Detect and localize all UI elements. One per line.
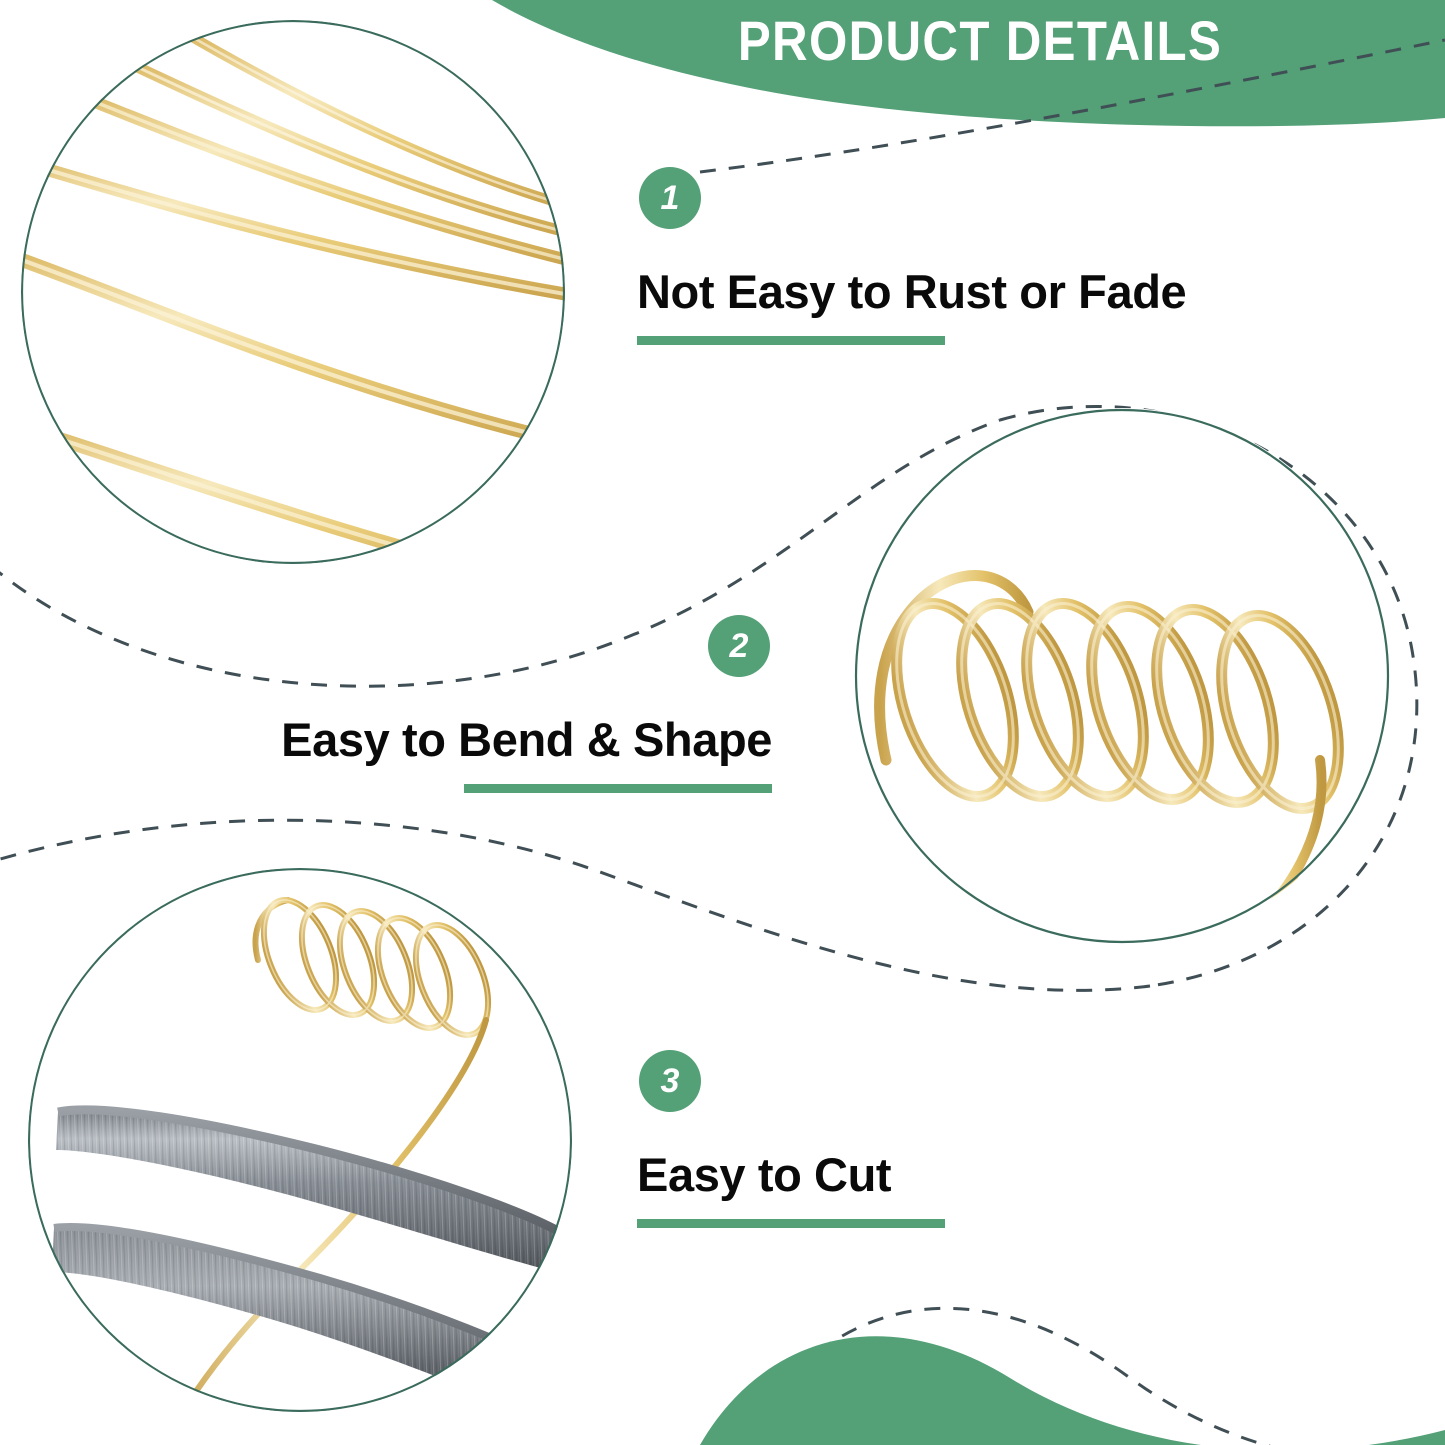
- scissor-blade-upper: [56, 1110, 560, 1272]
- feature-title-2: Easy to Bend & Shape: [252, 715, 772, 764]
- feature-block-3: 3 Easy to Cut: [637, 1050, 945, 1228]
- scissor-blade-lower: [52, 1227, 562, 1424]
- photo-circle-wire-coil: [850, 400, 1400, 950]
- photo-circle-scissors-cutting: [20, 860, 580, 1440]
- feature-block-1: 1 Not Easy to Rust or Fade: [637, 167, 1186, 345]
- product-details-infographic: PRODUCT DETAILS 1 Not Easy to Rust or Fa…: [0, 0, 1445, 1445]
- page-title: PRODUCT DETAILS: [646, 8, 1315, 73]
- feature-title-3: Easy to Cut: [637, 1150, 945, 1199]
- footer-green-wave: [700, 1336, 1445, 1445]
- feature-underline-1: [637, 336, 945, 345]
- feature-underline-2: [464, 784, 772, 793]
- feature-block-2: 2 Easy to Bend & Shape: [252, 615, 772, 793]
- feature-number-badge-3: 3: [639, 1050, 701, 1112]
- dashed-curve-circle2: [1000, 406, 1417, 986]
- dashed-curve-bottom: [818, 1308, 1445, 1445]
- dashed-curve-lower-left: [0, 820, 1150, 990]
- feature-number-badge-1: 1: [639, 167, 701, 229]
- feature-number-badge-2: 2: [708, 615, 770, 677]
- photo-circle-wire-strands: [0, 10, 600, 600]
- feature-title-1: Not Easy to Rust or Fade: [637, 267, 1186, 316]
- feature-underline-3: [637, 1219, 945, 1228]
